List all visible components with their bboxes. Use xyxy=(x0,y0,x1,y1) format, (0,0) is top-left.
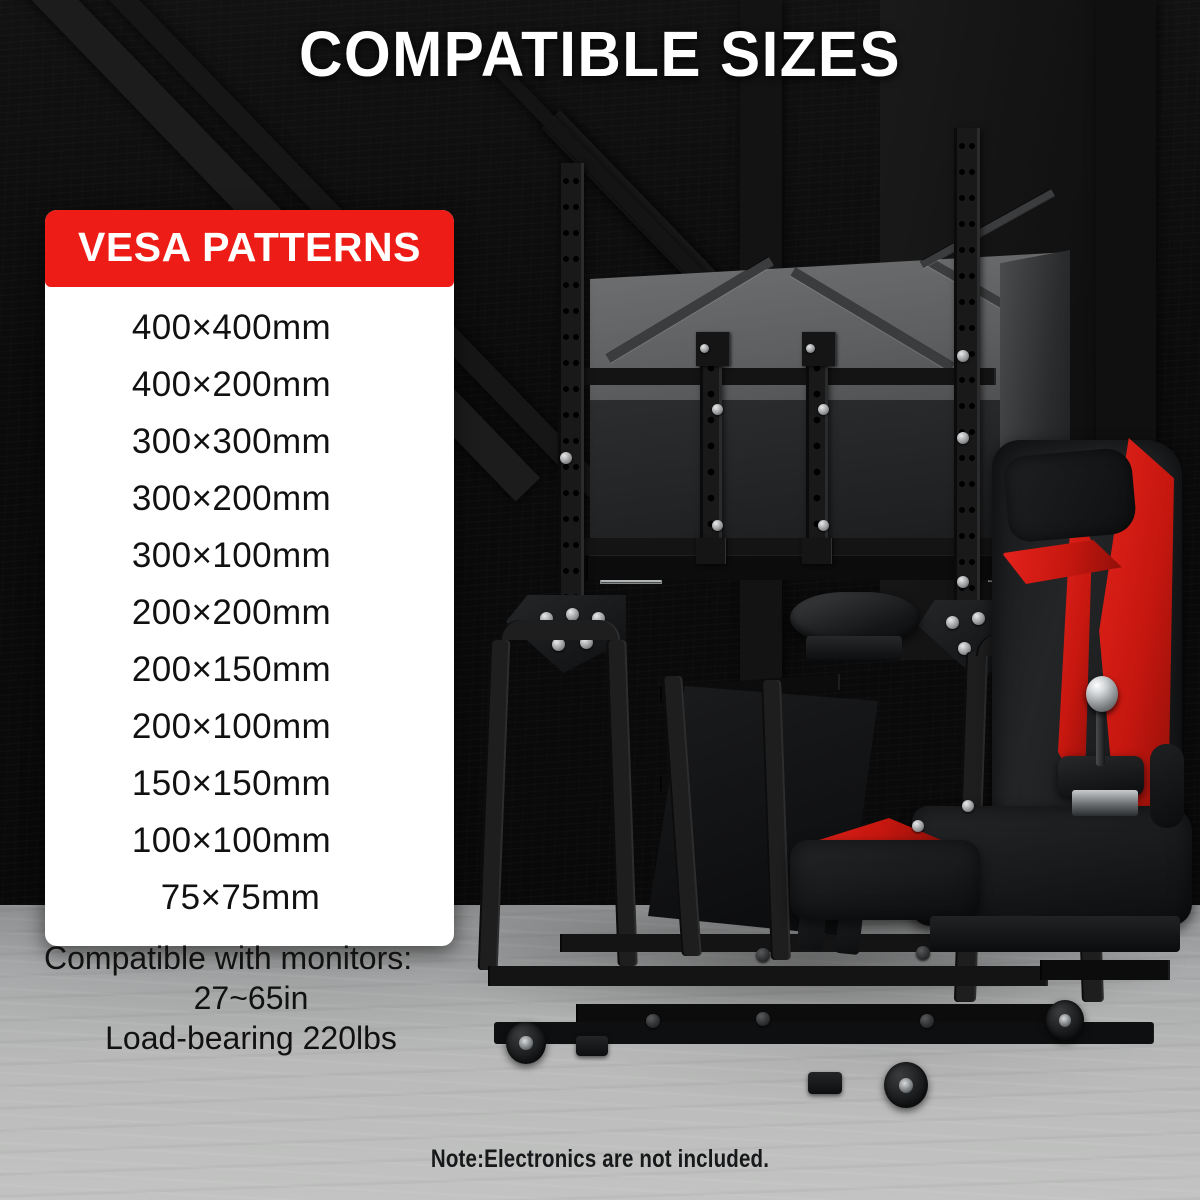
leveling-foot-left xyxy=(576,1036,608,1056)
mount-bolt xyxy=(806,344,815,353)
seat-headrest xyxy=(1002,447,1137,544)
list-item: 150×150mm xyxy=(45,755,454,812)
frame-curve-left xyxy=(500,620,620,640)
mount-bolt xyxy=(700,344,709,353)
list-item: 400×200mm xyxy=(45,356,454,413)
shifter-stick xyxy=(1096,706,1105,766)
spec-block: Compatible with monitors: 27~65in Load-b… xyxy=(36,938,466,1058)
caster-hub xyxy=(899,1078,914,1094)
gusset-bolt xyxy=(946,616,959,629)
page-title: COMPATIBLE SIZES xyxy=(36,17,1164,91)
stand-upright-post-left xyxy=(558,163,584,618)
list-item: 300×200mm xyxy=(45,470,454,527)
post-holes xyxy=(959,142,975,618)
list-item: 400×400mm xyxy=(45,299,454,356)
post-bolt xyxy=(560,452,572,464)
list-item: 100×100mm xyxy=(45,812,454,869)
seat-base-slider xyxy=(930,916,1180,952)
caster-wheel-right xyxy=(1046,1000,1084,1040)
vesa-crossbar-upper xyxy=(576,368,996,385)
load-bearing-spec: Load-bearing 220lbs xyxy=(36,1018,466,1058)
frame-bolt xyxy=(916,946,930,960)
post-bolt xyxy=(957,432,969,444)
frame-bolt xyxy=(962,800,974,812)
shifter-knob xyxy=(1086,676,1118,712)
mount-bolt xyxy=(818,520,829,531)
list-item: 200×150mm xyxy=(45,641,454,698)
base-rail-rear xyxy=(1040,960,1170,980)
frame-rail-long-lower xyxy=(488,966,1048,986)
list-item: 200×100mm xyxy=(45,698,454,755)
caster-wheel-center xyxy=(884,1062,928,1108)
frame-bolt xyxy=(920,1014,934,1028)
frame-bolt xyxy=(646,1014,660,1028)
gusset-bolt xyxy=(972,612,985,625)
mount-bolt xyxy=(712,520,723,531)
vesa-card-heading: VESA PATTERNS xyxy=(45,210,454,287)
seat-cushion-front xyxy=(790,840,980,920)
caster-wheel-left xyxy=(506,1022,546,1064)
monitor-compatibility-label: Compatible with monitors: xyxy=(36,938,466,978)
shifter-mount-clamp xyxy=(1072,790,1138,816)
list-item: 300×100mm xyxy=(45,527,454,584)
frame-bolt xyxy=(756,948,770,962)
list-item: 75×75mm xyxy=(45,869,454,926)
frame-bolt xyxy=(912,820,924,832)
caster-hub xyxy=(519,1036,533,1050)
vesa-patterns-card: VESA PATTERNS 400×400mm 400×200mm 300×30… xyxy=(45,210,454,946)
mount-bolt xyxy=(712,404,723,415)
list-item: 200×200mm xyxy=(45,584,454,641)
caster-hub xyxy=(1059,1014,1072,1028)
footer-note: Note:Electronics are not included. xyxy=(108,1145,1092,1174)
stand-upright-post-right xyxy=(954,128,980,628)
frame-bolt xyxy=(756,1012,770,1026)
monitor-size-range: 27~65in xyxy=(36,978,466,1018)
vesa-pattern-list: 400×400mm 400×200mm 300×300mm 300×200mm … xyxy=(45,287,454,946)
post-bolt xyxy=(957,350,969,362)
post-holes xyxy=(563,177,579,608)
post-bolt xyxy=(957,576,969,588)
seat-side-handle xyxy=(1150,744,1184,828)
list-item: 300×300mm xyxy=(45,413,454,470)
leveling-foot-right xyxy=(808,1072,842,1094)
vesa-crossbar-lower xyxy=(576,538,996,555)
wheel-mount-plate xyxy=(806,636,902,660)
vesa-hook-bracket xyxy=(802,538,832,564)
vesa-hook-bracket xyxy=(696,538,726,564)
mount-bolt xyxy=(818,404,829,415)
